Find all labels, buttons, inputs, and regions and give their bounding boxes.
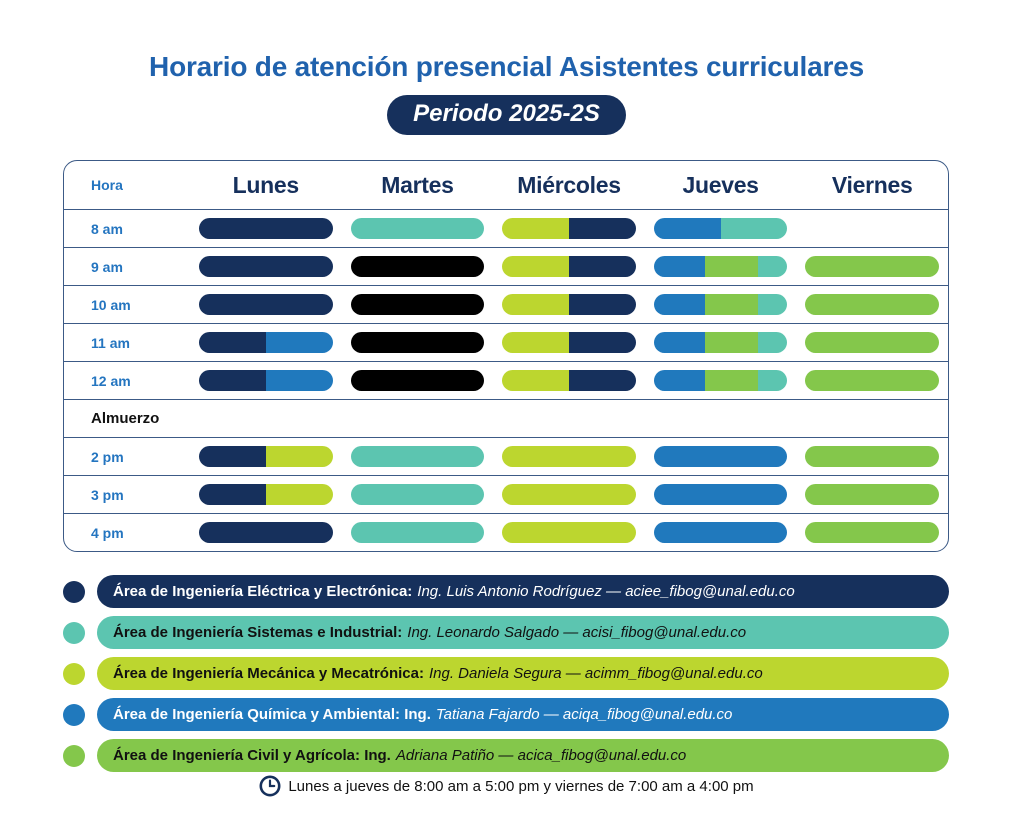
schedule-cell[interactable]	[493, 522, 645, 543]
bar-segment	[199, 446, 266, 467]
schedule-bar	[502, 256, 636, 277]
hour-label: 11 am	[64, 335, 190, 351]
footer: Lunes a jueves de 8:00 am a 5:00 pm y vi…	[0, 775, 1013, 797]
schedule-bar	[654, 522, 788, 543]
bar-segment	[199, 332, 266, 353]
legend: Área de Ingeniería Eléctrica y Electróni…	[63, 575, 949, 780]
bar-segment	[758, 294, 787, 315]
schedule-bar	[654, 256, 788, 277]
schedule-bar	[805, 218, 939, 239]
bar-segment	[502, 522, 636, 543]
schedule-bar	[654, 332, 788, 353]
header-hora: Hora	[64, 177, 190, 193]
bar-segment	[569, 218, 636, 239]
bar-segment	[351, 484, 485, 505]
header-day-viernes: Viernes	[796, 172, 948, 199]
schedule-cell[interactable]	[342, 370, 494, 391]
bar-segment	[266, 370, 333, 391]
schedule-cell[interactable]	[796, 446, 948, 467]
schedule-cell[interactable]	[190, 294, 342, 315]
bar-segment	[351, 370, 485, 391]
schedule-bar	[654, 370, 788, 391]
schedule-bar	[654, 484, 788, 505]
legend-row: Área de Ingeniería Sistemas e Industrial…	[63, 616, 949, 649]
hour-label: 8 am	[64, 221, 190, 237]
table-header-row: Hora Lunes Martes Miércoles Jueves Viern…	[64, 161, 948, 209]
bar-segment	[569, 332, 636, 353]
bar-segment	[805, 484, 939, 505]
schedule-cell[interactable]	[342, 294, 494, 315]
schedule-bar	[199, 446, 333, 467]
bar-segment	[721, 218, 788, 239]
schedule-cell[interactable]	[493, 370, 645, 391]
hour-label: 3 pm	[64, 487, 190, 503]
table-row: 11 am	[64, 323, 948, 361]
legend-pill[interactable]: Área de Ingeniería Sistemas e Industrial…	[97, 616, 949, 649]
schedule-bar	[502, 370, 636, 391]
schedule-cell[interactable]	[342, 446, 494, 467]
legend-area-name: Área de Ingeniería Química y Ambiental: …	[113, 706, 431, 723]
schedule-cell[interactable]	[493, 256, 645, 277]
schedule-bar	[654, 294, 788, 315]
hour-label: 2 pm	[64, 449, 190, 465]
schedule-bar	[199, 294, 333, 315]
schedule-cell[interactable]	[645, 218, 797, 239]
period-badge-row: Periodo 2025-2S	[0, 95, 1013, 135]
bar-segment	[199, 218, 333, 239]
legend-contact: Adriana Patiño — acica_fibog@unal.edu.co	[391, 747, 686, 764]
bar-segment	[705, 294, 758, 315]
hour-label: 9 am	[64, 259, 190, 275]
bar-segment	[351, 446, 485, 467]
bar-segment	[805, 332, 939, 353]
schedule-cell[interactable]	[493, 484, 645, 505]
bar-segment	[654, 294, 705, 315]
schedule-bar	[502, 484, 636, 505]
schedule-bar	[502, 218, 636, 239]
bar-segment	[502, 256, 569, 277]
bar-segment	[351, 218, 485, 239]
header-day-miercoles: Miércoles	[493, 172, 645, 199]
legend-pill[interactable]: Área de Ingeniería Mecánica y Mecatrónic…	[97, 657, 949, 690]
schedule-bar	[351, 446, 485, 467]
schedule-table: Hora Lunes Martes Miércoles Jueves Viern…	[63, 160, 949, 552]
schedule-cell[interactable]	[342, 218, 494, 239]
table-row: 10 am	[64, 285, 948, 323]
table-row: 12 am	[64, 361, 948, 399]
schedule-bar	[351, 370, 485, 391]
schedule-bar	[199, 256, 333, 277]
schedule-bar	[351, 484, 485, 505]
schedule-cell[interactable]	[493, 218, 645, 239]
schedule-cell[interactable]	[645, 332, 797, 353]
bar-segment	[654, 332, 705, 353]
schedule-cell[interactable]	[190, 370, 342, 391]
bar-segment	[654, 256, 705, 277]
legend-contact: Ing. Leonardo Salgado — acisi_fibog@unal…	[402, 624, 746, 641]
bar-segment	[351, 294, 485, 315]
table-row: 2 pm	[64, 437, 948, 475]
period-badge: Periodo 2025-2S	[387, 95, 626, 135]
bar-segment	[569, 256, 636, 277]
legend-contact: Ing. Luis Antonio Rodríguez — aciee_fibo…	[412, 583, 794, 600]
legend-color-dot	[63, 663, 85, 685]
schedule-bar	[351, 256, 485, 277]
schedule-cell[interactable]	[190, 332, 342, 353]
bar-segment	[502, 484, 636, 505]
schedule-cell[interactable]	[645, 370, 797, 391]
schedule-bar	[199, 522, 333, 543]
schedule-cell[interactable]	[645, 256, 797, 277]
hour-label: 10 am	[64, 297, 190, 313]
schedule-cell[interactable]	[645, 446, 797, 467]
bar-segment	[758, 256, 787, 277]
bar-segment	[705, 332, 758, 353]
schedule-bar	[351, 218, 485, 239]
bar-segment	[569, 294, 636, 315]
bar-segment	[654, 370, 705, 391]
header-block: Horario de atención presencial Asistente…	[0, 0, 1013, 83]
schedule-cell[interactable]	[796, 370, 948, 391]
schedule-bar	[654, 218, 788, 239]
schedule-cell[interactable]	[645, 294, 797, 315]
bar-segment	[351, 522, 485, 543]
bar-segment	[569, 370, 636, 391]
legend-color-dot	[63, 704, 85, 726]
schedule-cell[interactable]	[190, 446, 342, 467]
header-day-jueves: Jueves	[645, 172, 797, 199]
bar-segment	[351, 256, 485, 277]
bar-segment	[351, 332, 485, 353]
schedule-bar	[654, 446, 788, 467]
bar-segment	[705, 256, 758, 277]
bar-segment	[199, 370, 266, 391]
bar-segment	[805, 256, 939, 277]
bar-segment	[199, 294, 333, 315]
schedule-bar	[805, 256, 939, 277]
bar-segment	[805, 294, 939, 315]
schedule-bar	[805, 484, 939, 505]
schedule-bar	[199, 370, 333, 391]
schedule-bar	[805, 332, 939, 353]
legend-pill[interactable]: Área de Ingeniería Eléctrica y Electróni…	[97, 575, 949, 608]
table-row: 8 am	[64, 209, 948, 247]
legend-contact: Tatiana Fajardo — aciqa_fibog@unal.edu.c…	[431, 706, 733, 723]
bar-segment	[199, 256, 333, 277]
schedule-cell[interactable]	[796, 294, 948, 315]
table-row: 9 am	[64, 247, 948, 285]
schedule-bar	[199, 218, 333, 239]
bar-segment	[654, 218, 721, 239]
bar-segment	[805, 370, 939, 391]
bar-segment	[654, 522, 788, 543]
legend-area-name: Área de Ingeniería Eléctrica y Electróni…	[113, 583, 412, 600]
schedule-cell[interactable]	[190, 484, 342, 505]
schedule-bar	[502, 446, 636, 467]
bar-segment	[266, 446, 333, 467]
header-day-lunes: Lunes	[190, 172, 342, 199]
schedule-cell[interactable]	[342, 256, 494, 277]
schedule-cell[interactable]	[645, 484, 797, 505]
legend-row: Área de Ingeniería Civil y Agrícola: Ing…	[63, 739, 949, 772]
schedule-cell[interactable]	[493, 446, 645, 467]
bar-segment	[758, 332, 787, 353]
bar-segment	[805, 446, 939, 467]
schedule-bar	[351, 294, 485, 315]
schedule-bar	[502, 522, 636, 543]
schedule-cell[interactable]	[190, 522, 342, 543]
bar-segment	[502, 332, 569, 353]
schedule-cell[interactable]	[342, 484, 494, 505]
lunch-row: Almuerzo	[64, 399, 948, 437]
schedule-cell[interactable]	[342, 332, 494, 353]
schedule-cell[interactable]	[796, 256, 948, 277]
clock-icon	[259, 775, 281, 797]
schedule-bar	[805, 522, 939, 543]
legend-row: Área de Ingeniería Eléctrica y Electróni…	[63, 575, 949, 608]
schedule-cell[interactable]	[493, 332, 645, 353]
legend-contact: Ing. Daniela Segura — acimm_fibog@unal.e…	[424, 665, 763, 682]
schedule-cell[interactable]	[796, 484, 948, 505]
page-title: Horario de atención presencial Asistente…	[0, 52, 1013, 83]
schedule-bar	[805, 294, 939, 315]
table-row: 4 pm	[64, 513, 948, 551]
schedule-cell[interactable]	[645, 522, 797, 543]
bar-segment	[502, 446, 636, 467]
schedule-cell[interactable]	[342, 522, 494, 543]
bar-segment	[502, 370, 569, 391]
legend-row: Área de Ingeniería Mecánica y Mecatrónic…	[63, 657, 949, 690]
bar-segment	[199, 484, 266, 505]
legend-color-dot	[63, 581, 85, 603]
schedule-bar	[351, 332, 485, 353]
schedule-bar	[805, 370, 939, 391]
schedule-bar	[199, 484, 333, 505]
legend-area-name: Área de Ingeniería Mecánica y Mecatrónic…	[113, 665, 424, 682]
legend-area-name: Área de Ingeniería Civil y Agrícola: Ing…	[113, 747, 391, 764]
legend-row: Área de Ingeniería Química y Ambiental: …	[63, 698, 949, 731]
legend-area-name: Área de Ingeniería Sistemas e Industrial…	[113, 624, 402, 641]
schedule-cell[interactable]	[796, 522, 948, 543]
bar-segment	[199, 522, 333, 543]
schedule-cell[interactable]	[796, 332, 948, 353]
table-row: 3 pm	[64, 475, 948, 513]
legend-color-dot	[63, 622, 85, 644]
footer-text: Lunes a jueves de 8:00 am a 5:00 pm y vi…	[288, 778, 753, 795]
bar-segment	[654, 446, 788, 467]
schedule-cell[interactable]	[190, 218, 342, 239]
hour-label: 4 pm	[64, 525, 190, 541]
schedule-bar	[805, 446, 939, 467]
schedule-bar	[502, 294, 636, 315]
bar-segment	[502, 294, 569, 315]
hour-label: 12 am	[64, 373, 190, 389]
legend-pill[interactable]: Área de Ingeniería Civil y Agrícola: Ing…	[97, 739, 949, 772]
schedule-cell[interactable]	[796, 218, 948, 239]
bar-segment	[758, 370, 787, 391]
bar-segment	[502, 218, 569, 239]
bar-segment	[654, 484, 788, 505]
lunch-label: Almuerzo	[64, 410, 190, 427]
schedule-bar	[351, 522, 485, 543]
schedule-cell[interactable]	[493, 294, 645, 315]
bar-segment	[266, 332, 333, 353]
bar-segment	[266, 484, 333, 505]
schedule-cell[interactable]	[190, 256, 342, 277]
schedule-bar	[502, 332, 636, 353]
legend-color-dot	[63, 745, 85, 767]
schedule-bar	[199, 332, 333, 353]
legend-pill[interactable]: Área de Ingeniería Química y Ambiental: …	[97, 698, 949, 731]
bar-segment	[805, 522, 939, 543]
header-day-martes: Martes	[342, 172, 494, 199]
bar-segment	[705, 370, 758, 391]
